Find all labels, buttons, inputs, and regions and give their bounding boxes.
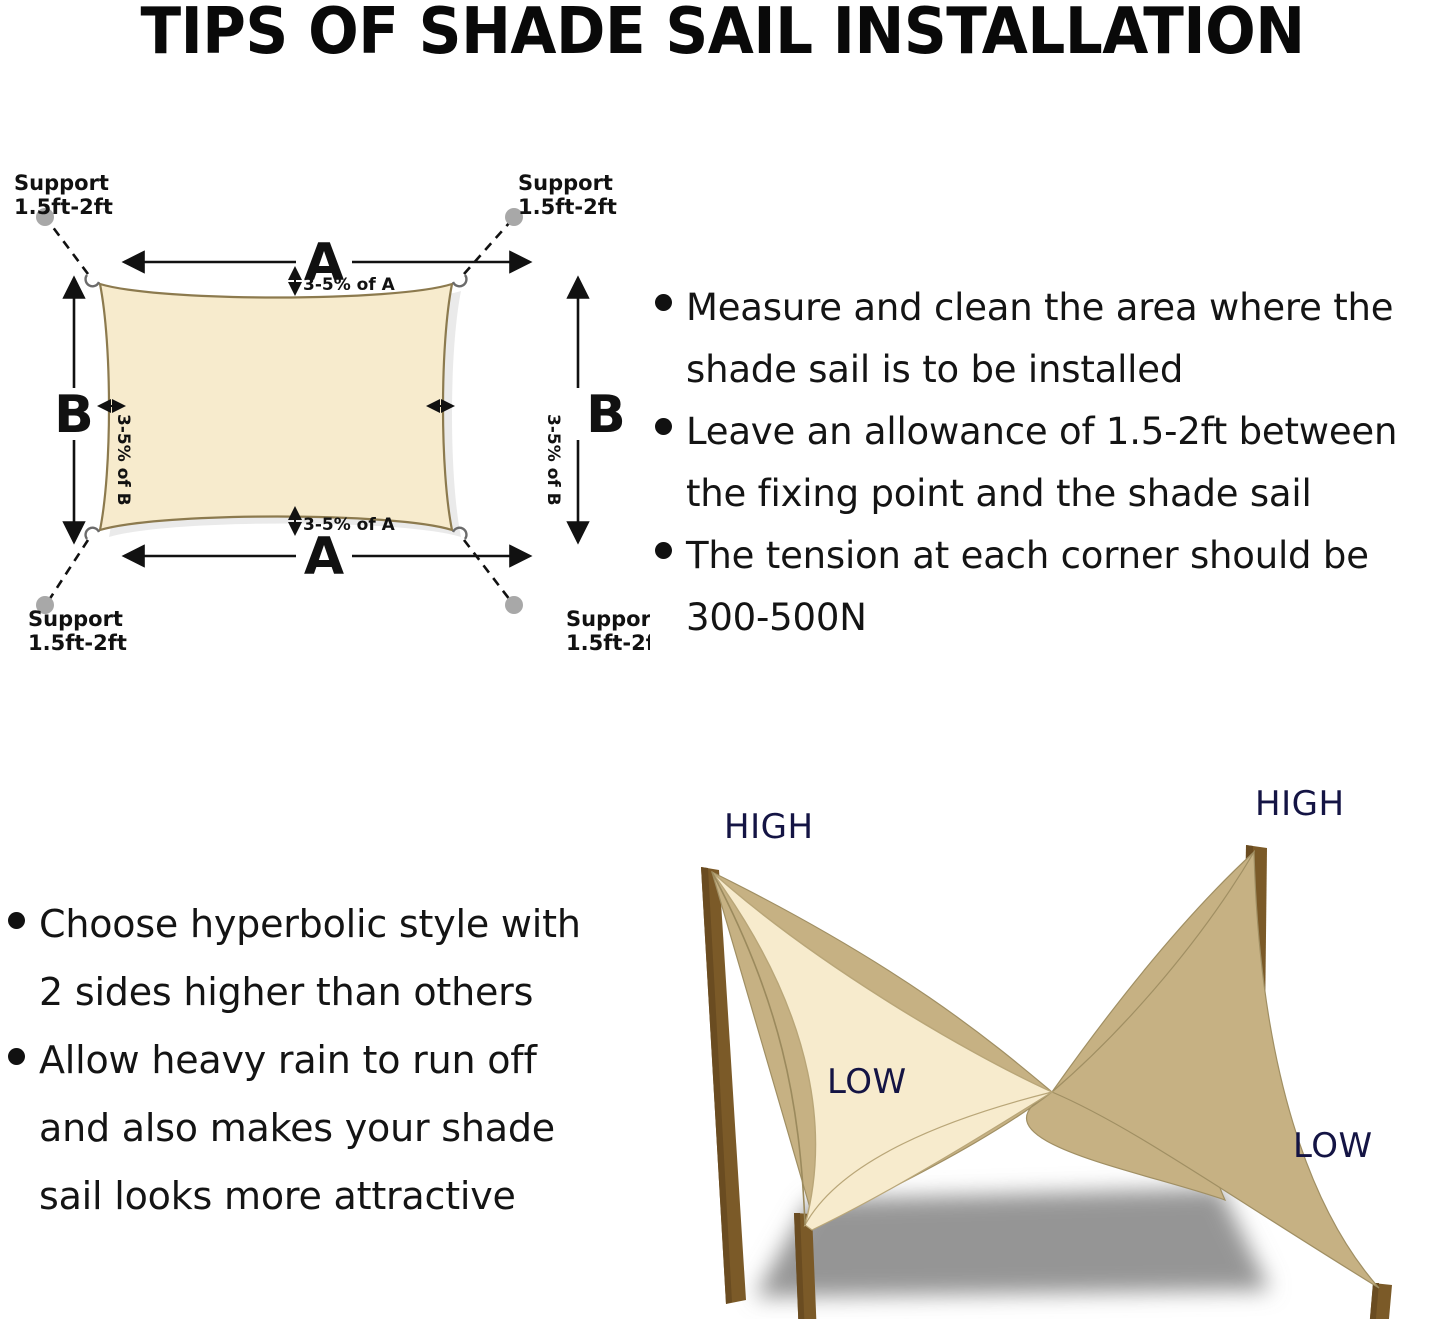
bullet-dot-icon [8, 1048, 25, 1065]
support-label-line2: 1.5ft-2ft [518, 195, 617, 219]
list-item-label: 300-500N [686, 587, 867, 649]
label-high-left: HIGH [724, 807, 814, 847]
support-label-line1: Support [566, 607, 650, 631]
list-item-label: shade sail is to be installed [686, 339, 1183, 401]
curvature-b-left: 3-5% of B [99, 406, 133, 506]
list-item-label: Measure and clean the area where the [686, 277, 1393, 339]
curvature-a-top-label: 3-5% of A [303, 275, 396, 295]
list-item: the fixing point and the shade sail [655, 463, 1445, 525]
support-label-line2: 1.5ft-2ft [28, 631, 127, 655]
dimension-b-right-label: B [586, 385, 626, 445]
bullet-dot-icon [655, 480, 672, 497]
list-item-label: Choose hyperbolic style with [39, 890, 581, 958]
list-item: Leave an allowance of 1.5-2ft between [655, 401, 1445, 463]
bullet-dot-icon [8, 1116, 25, 1133]
tips-list-bottom: Choose hyperbolic style with 2 sides hig… [8, 890, 648, 1230]
curvature-b-left-label: 3-5% of B [113, 414, 133, 506]
dimension-b-right: B [578, 278, 626, 542]
support-label-top-left: Support 1.5ft-2ft [14, 171, 113, 219]
post-low-right [1369, 1283, 1392, 1319]
tips-list-right: Measure and clean the area where the sha… [655, 277, 1445, 649]
bullet-dot-icon [8, 980, 25, 997]
label-low-right: LOW [1293, 1126, 1373, 1166]
curvature-a-bottom-label: 3-5% of A [303, 515, 396, 535]
curvature-b-right-label: 3-5% of B [543, 414, 563, 506]
dimension-b-left: B [54, 278, 94, 542]
bullet-dot-icon [8, 1184, 25, 1201]
bullet-dot-icon [8, 912, 25, 929]
support-label-line2: 1.5ft-2ft [14, 195, 113, 219]
list-item: sail looks more attractive [8, 1162, 648, 1230]
list-item-label: and also makes your shade [39, 1094, 555, 1162]
list-item: shade sail is to be installed [655, 339, 1445, 401]
list-item: Choose hyperbolic style with [8, 890, 648, 958]
list-item-label: Leave an allowance of 1.5-2ft between [686, 401, 1397, 463]
list-item-label: 2 sides higher than others [39, 958, 533, 1026]
bullet-dot-icon [655, 356, 672, 373]
list-item: The tension at each corner should be [655, 525, 1445, 587]
list-item-label: Allow heavy rain to run off [39, 1026, 537, 1094]
list-item: 300-500N [655, 587, 1445, 649]
label-low-left: LOW [827, 1062, 907, 1102]
list-item: and also makes your shade [8, 1094, 648, 1162]
support-label-bottom-right: Support 1.5ft-2ft [566, 607, 650, 655]
infographic-page: TIPS OF SHADE SAIL INSTALLATION [0, 0, 1445, 1319]
support-label-top-right: Support 1.5ft-2ft [518, 171, 617, 219]
dimension-a-bottom-label: A [304, 527, 344, 587]
label-high-right: HIGH [1255, 784, 1345, 824]
list-item: Measure and clean the area where the [655, 277, 1445, 339]
support-label-line1: Support [28, 607, 123, 631]
list-item: 2 sides higher than others [8, 958, 648, 1026]
bullet-dot-icon [655, 604, 672, 621]
dimension-a-bottom: A [124, 527, 530, 587]
list-item-label: sail looks more attractive [39, 1162, 516, 1230]
shade-sail-shape [100, 284, 452, 530]
support-label-line2: 1.5ft-2ft [566, 631, 650, 655]
list-item-label: the fixing point and the shade sail [686, 463, 1312, 525]
list-item-label: The tension at each corner should be [686, 525, 1369, 587]
bullet-dot-icon [655, 294, 672, 311]
page-title: TIPS OF SHADE SAIL INSTALLATION [51, 0, 1395, 70]
bullet-dot-icon [655, 418, 672, 435]
rectangular-sail-dimension-diagram: Support 1.5ft-2ft Support 1.5ft-2ft Supp… [0, 160, 650, 720]
support-label-bottom-left: Support 1.5ft-2ft [28, 607, 127, 655]
list-item: Allow heavy rain to run off [8, 1026, 648, 1094]
hyperbolic-sail-illustration: HIGH HIGH LOW LOW [660, 770, 1445, 1319]
bullet-dot-icon [655, 542, 672, 559]
dimension-b-left-label: B [54, 385, 94, 445]
support-label-line1: Support [518, 171, 613, 195]
support-label-line1: Support [14, 171, 109, 195]
